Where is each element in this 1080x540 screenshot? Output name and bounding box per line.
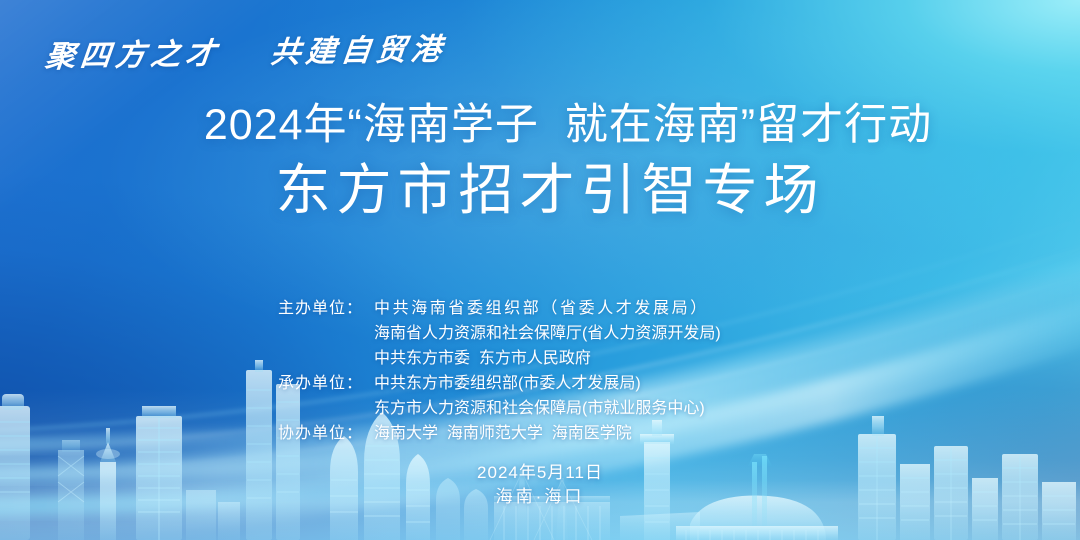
organizer-value-host-1: 中共海南省委组织部（省委人才发展局） <box>374 296 709 321</box>
organizer-value-host-3: 中共东方市委 东方市人民政府 <box>374 346 591 371</box>
organizer-value-host-2: 海南省人力资源和社会保障厅(省人力资源开发局) <box>374 321 721 346</box>
organizer-row-organizer: 承办单位： 中共东方市委组织部(市委人才发展局) <box>278 371 721 396</box>
organizer-label-coorganizer: 协办单位： <box>278 421 374 446</box>
headline-line-2: 东方市招才引智专场 <box>0 145 1080 225</box>
organizer-value-organizer-1: 中共东方市委组织部(市委人才发展局) <box>374 371 641 396</box>
organizer-block: 主办单位： 中共海南省委组织部（省委人才发展局） 海南省人力资源和社会保障厅(省… <box>278 296 721 446</box>
organizer-row-organizer-2: 东方市人力资源和社会保障局(市就业服务中心) <box>278 396 721 421</box>
organizer-row-host-2: 海南省人力资源和社会保障厅(省人力资源开发局) <box>278 321 721 346</box>
organizer-value-organizer-2: 东方市人力资源和社会保障局(市就业服务中心) <box>374 396 705 421</box>
poster-content: 聚四方之才 共建自贸港 2024年“海南学子 就在海南”留才行动 东方市招才引智… <box>0 0 1080 540</box>
organizer-label-organizer: 承办单位： <box>278 371 374 396</box>
headline-line-1: 2024年“海南学子 就在海南”留才行动 <box>0 90 1080 152</box>
event-date: 2024年5月11日 <box>0 458 1080 483</box>
organizer-value-coorganizer-1: 海南大学 海南师范大学 海南医学院 <box>374 421 632 446</box>
organizer-row-host: 主办单位： 中共海南省委组织部（省委人才发展局） <box>278 296 721 321</box>
organizer-row-host-3: 中共东方市委 东方市人民政府 <box>278 346 721 371</box>
organizer-row-coorganizer: 协办单位： 海南大学 海南师范大学 海南医学院 <box>278 421 721 446</box>
event-poster: 聚四方之才 共建自贸港 2024年“海南学子 就在海南”留才行动 东方市招才引智… <box>0 0 1080 540</box>
calligraphy-slogan: 聚四方之才 共建自贸港 <box>43 24 448 76</box>
organizer-label-host: 主办单位： <box>278 296 374 321</box>
event-location: 海南·海口 <box>0 482 1080 507</box>
